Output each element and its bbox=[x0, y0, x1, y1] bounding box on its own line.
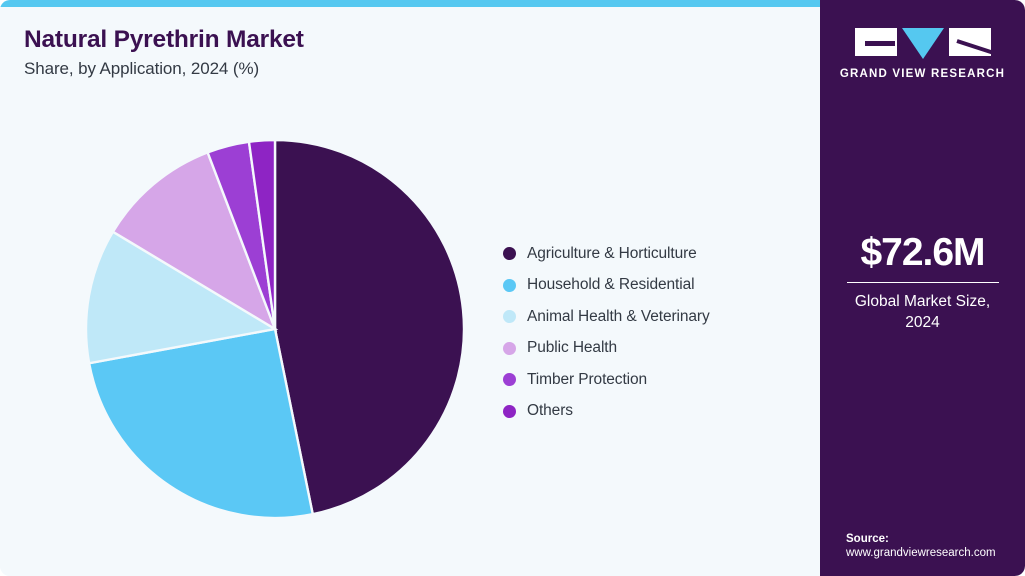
logo-marks bbox=[820, 28, 1025, 58]
legend-color-swatch-icon bbox=[503, 279, 516, 292]
legend-color-swatch-icon bbox=[503, 373, 516, 386]
chart-content-area: Natural Pyrethrin Market Share, by Appli… bbox=[0, 0, 820, 576]
infographic-card: Natural Pyrethrin Market Share, by Appli… bbox=[0, 0, 1025, 576]
page-title: Natural Pyrethrin Market bbox=[24, 26, 304, 54]
logo-r-icon bbox=[949, 28, 991, 56]
legend-color-swatch-icon bbox=[503, 310, 516, 323]
legend-item[interactable]: Agriculture & Horticulture bbox=[503, 238, 803, 270]
source-footer: Source: www.grandviewresearch.com bbox=[846, 533, 1025, 559]
pie-slice-group: Agriculture & Horticulture 46.8%Househol… bbox=[86, 140, 464, 518]
stat-caption: Global Market Size, 2024 bbox=[820, 292, 1025, 334]
market-size-stat: $72.6M Global Market Size, 2024 bbox=[820, 233, 1025, 334]
legend-item-label: Household & Residential bbox=[527, 276, 694, 294]
source-url[interactable]: www.grandviewresearch.com bbox=[846, 547, 1025, 559]
legend-item[interactable]: Others bbox=[503, 396, 803, 428]
pie-slice[interactable]: Agriculture & Horticulture 46.8% bbox=[275, 140, 464, 514]
page-subtitle: Share, by Application, 2024 (%) bbox=[24, 59, 259, 79]
legend-item-label: Animal Health & Veterinary bbox=[527, 308, 710, 326]
logo-v-triangle-icon bbox=[902, 28, 944, 59]
legend-item-label: Timber Protection bbox=[527, 371, 647, 389]
legend-item-label: Agriculture & Horticulture bbox=[527, 245, 697, 263]
logo-wordmark: GRAND VIEW RESEARCH bbox=[820, 68, 1025, 80]
stat-divider bbox=[847, 282, 999, 283]
legend-item[interactable]: Public Health bbox=[503, 333, 803, 365]
side-panel: GRAND VIEW RESEARCH $72.6M Global Market… bbox=[820, 0, 1025, 576]
logo-g-icon bbox=[855, 28, 897, 56]
chart-legend: Agriculture & HorticultureHousehold & Re… bbox=[503, 238, 803, 427]
legend-item[interactable]: Animal Health & Veterinary bbox=[503, 301, 803, 333]
legend-item[interactable]: Timber Protection bbox=[503, 364, 803, 396]
legend-item-label: Others bbox=[527, 402, 573, 420]
legend-item-label: Public Health bbox=[527, 339, 617, 357]
pie-chart: Agriculture & Horticulture 46.8%Househol… bbox=[86, 140, 464, 518]
source-label: Source: bbox=[846, 533, 1025, 545]
legend-item[interactable]: Household & Residential bbox=[503, 270, 803, 302]
stat-value: $72.6M bbox=[820, 233, 1025, 274]
pie-chart-svg: Agriculture & Horticulture 46.8%Househol… bbox=[86, 140, 464, 518]
top-accent-bar bbox=[0, 0, 820, 7]
legend-color-swatch-icon bbox=[503, 342, 516, 355]
brand-logo: GRAND VIEW RESEARCH bbox=[820, 28, 1025, 80]
legend-color-swatch-icon bbox=[503, 405, 516, 418]
legend-color-swatch-icon bbox=[503, 247, 516, 260]
